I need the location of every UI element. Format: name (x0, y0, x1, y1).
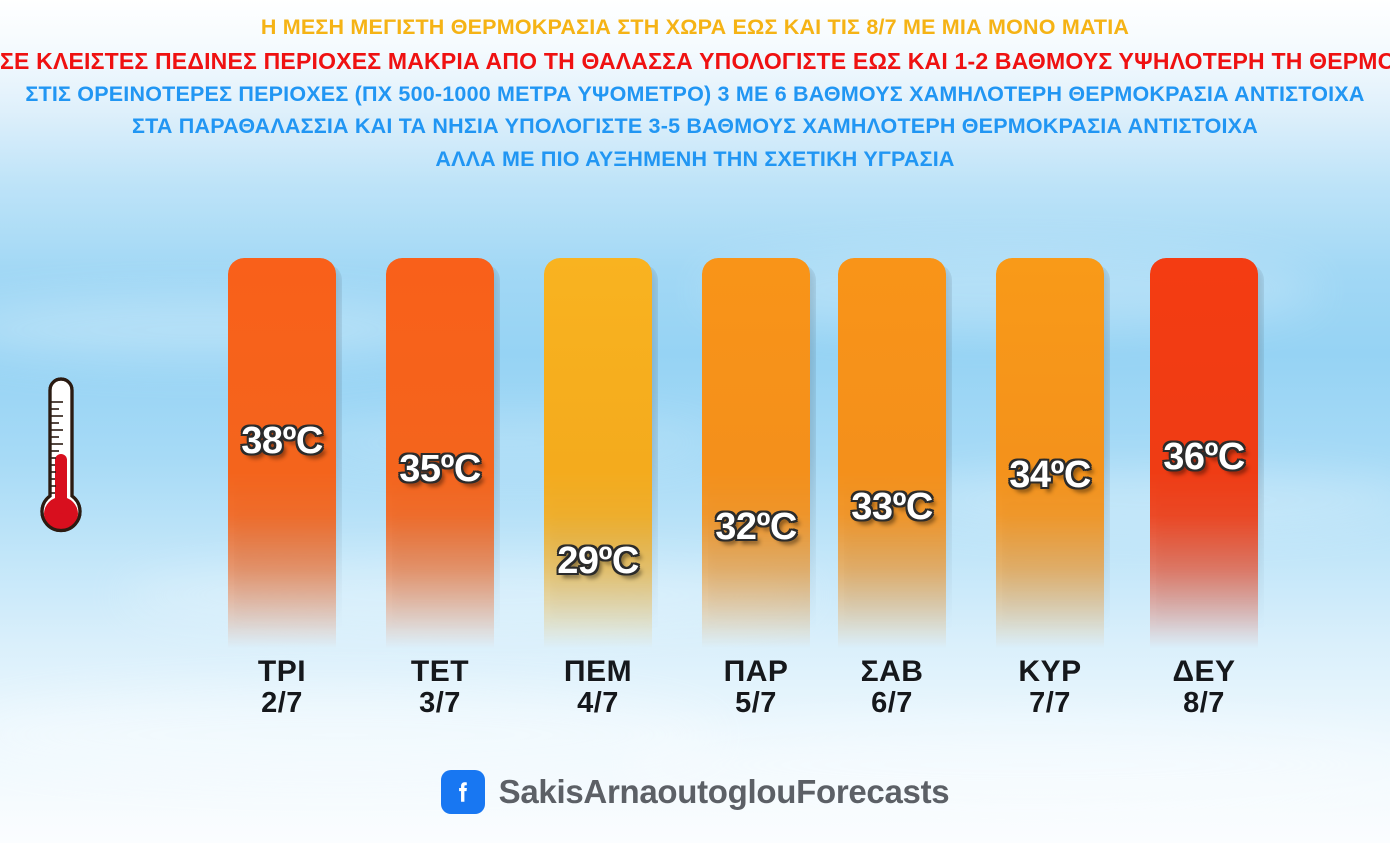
bar-column: 36ºCΔΕΥ8/7 (1150, 258, 1258, 748)
page-title: Η ΜΕΣΗ ΜΕΓΙΣΤΗ ΘΕΡΜΟΚΡΑΣΙΑ ΣΤΗ ΧΩΡΑ ΕΩΣ … (0, 17, 1390, 39)
headline-block: Η ΜΕΣΗ ΜΕΓΙΣΤΗ ΘΕΡΜΟΚΡΑΣΙΑ ΣΤΗ ΧΩΡΑ ΕΩΣ … (0, 0, 1390, 170)
temperature-bar[interactable] (544, 258, 652, 648)
bar-day-label: ΔΕΥ8/7 (1136, 656, 1272, 719)
weather-infographic: Η ΜΕΣΗ ΜΕΓΙΣΤΗ ΘΕΡΜΟΚΡΑΣΙΑ ΣΤΗ ΧΩΡΑ ΕΩΣ … (0, 0, 1390, 843)
footer-credit: SakisArnaoutoglouForecasts (0, 770, 1390, 814)
note-line-mountains: ΣΤΙΣ ΟΡΕΙΝΟΤΕΡΕΣ ΠΕΡΙΟΧΕΣ (ΠΧ 500-1000 Μ… (0, 84, 1390, 106)
thermometer-icon (28, 368, 94, 548)
temperature-bar[interactable] (838, 258, 946, 648)
bar-value-label: 29ºC (544, 540, 652, 583)
warning-line: ΣΕ ΚΛΕΙΣΤΕΣ ΠΕΔΙΝΕΣ ΠΕΡΙΟΧΕΣ ΜΑΚΡΙΑ ΑΠΟ … (0, 50, 1390, 73)
day-date: 8/7 (1136, 688, 1272, 719)
bar-day-label: ΣΑΒ6/7 (824, 656, 960, 719)
day-name: ΔΕΥ (1136, 656, 1272, 688)
day-date: 7/7 (982, 688, 1118, 719)
day-name: ΣΑΒ (824, 656, 960, 688)
bar-day-label: ΤΡΙ2/7 (214, 656, 350, 719)
bar-value-label: 33ºC (838, 486, 946, 529)
day-date: 2/7 (214, 688, 350, 719)
facebook-handle[interactable]: SakisArnaoutoglouForecasts (499, 773, 950, 811)
bar-day-label: ΤΕΤ3/7 (372, 656, 508, 719)
day-name: ΤΕΤ (372, 656, 508, 688)
bar-value-label: 38ºC (228, 420, 336, 463)
day-name: ΠΑΡ (688, 656, 824, 688)
bar-value-label: 34ºC (996, 454, 1104, 497)
day-date: 6/7 (824, 688, 960, 719)
bar-value-label: 36ºC (1150, 436, 1258, 479)
bar-day-label: ΚΥΡ7/7 (982, 656, 1118, 719)
day-name: ΚΥΡ (982, 656, 1118, 688)
bar-column: 33ºCΣΑΒ6/7 (838, 258, 946, 748)
day-date: 3/7 (372, 688, 508, 719)
day-name: ΠΕΜ (530, 656, 666, 688)
temperature-bar[interactable] (996, 258, 1104, 648)
bar-column: 38ºCΤΡΙ2/7 (228, 258, 336, 748)
bar-value-label: 32ºC (702, 506, 810, 549)
bar-column: 32ºCΠΑΡ5/7 (702, 258, 810, 748)
bar-column: 34ºCΚΥΡ7/7 (996, 258, 1104, 748)
facebook-icon[interactable] (441, 770, 485, 814)
bar-column: 29ºCΠΕΜ4/7 (544, 258, 652, 748)
note-line-humidity: ΑΛΛΑ ΜΕ ΠΙΟ ΑΥΞΗΜΕΝΗ ΤΗΝ ΣΧΕΤΙΚΗ ΥΓΡΑΣΙΑ (0, 149, 1390, 171)
day-date: 5/7 (688, 688, 824, 719)
day-name: ΤΡΙ (214, 656, 350, 688)
day-date: 4/7 (530, 688, 666, 719)
bar-day-label: ΠΕΜ4/7 (530, 656, 666, 719)
note-line-coastal: ΣΤΑ ΠΑΡΑΘΑΛΑΣΣΙΑ ΚΑΙ ΤΑ ΝΗΣΙΑ ΥΠΟΛΟΓΙΣΤΕ… (0, 116, 1390, 138)
bar-value-label: 35ºC (386, 448, 494, 491)
temperature-bar[interactable] (702, 258, 810, 648)
bar-day-label: ΠΑΡ5/7 (688, 656, 824, 719)
bar-column: 35ºCΤΕΤ3/7 (386, 258, 494, 748)
